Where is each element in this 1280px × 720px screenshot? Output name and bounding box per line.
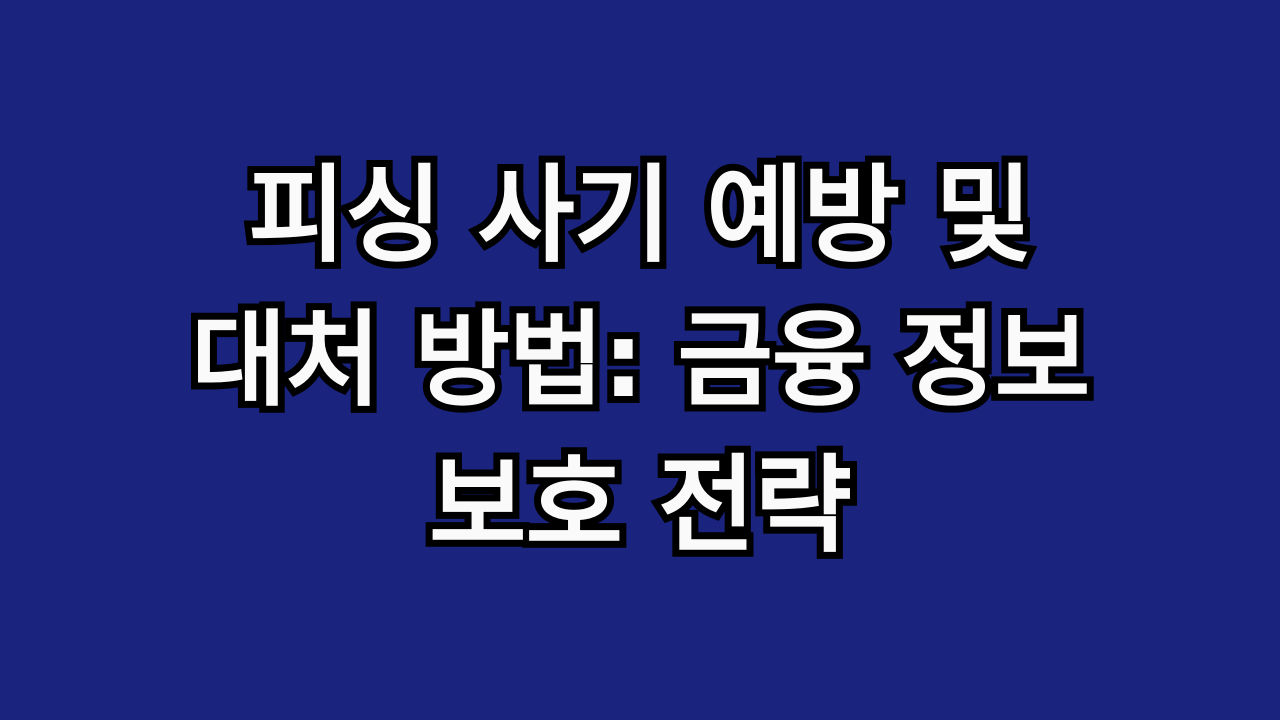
- thumbnail-canvas: 피싱 사기 예방 및 대처 방법: 금융 정보 보호 전략: [0, 0, 1280, 720]
- title-line-3: 보호 전략: [30, 433, 1250, 578]
- title-line-2: 대처 방법: 금융 정보: [30, 288, 1250, 433]
- page-title: 피싱 사기 예방 및 대처 방법: 금융 정보 보호 전략: [30, 143, 1250, 578]
- title-line-1: 피싱 사기 예방 및: [30, 143, 1250, 288]
